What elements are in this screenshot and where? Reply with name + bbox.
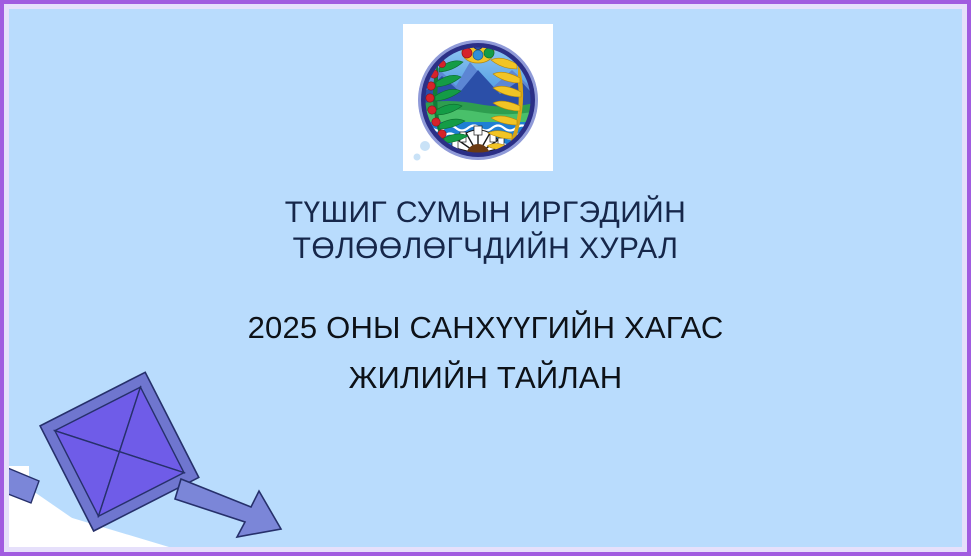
diamond-arrow-icon (9, 361, 309, 547)
coat-of-arms-icon (408, 28, 548, 168)
slide-title: ТҮШИГ СУМЫН ИРГЭДИЙН ТӨЛӨӨЛӨГЧДИЙН ХУРАЛ (9, 195, 962, 267)
arrow-shape (175, 479, 281, 537)
emblem-image (403, 24, 553, 171)
decorative-graphic (9, 361, 309, 547)
slide-canvas: ТҮШИГ СУМЫН ИРГЭДИЙН ТӨЛӨӨЛӨГЧДИЙН ХУРАЛ… (9, 9, 962, 547)
presentation-slide: ТҮШИГ СУМЫН ИРГЭДИЙН ТӨЛӨӨЛӨГЧДИЙН ХУРАЛ… (0, 0, 971, 556)
